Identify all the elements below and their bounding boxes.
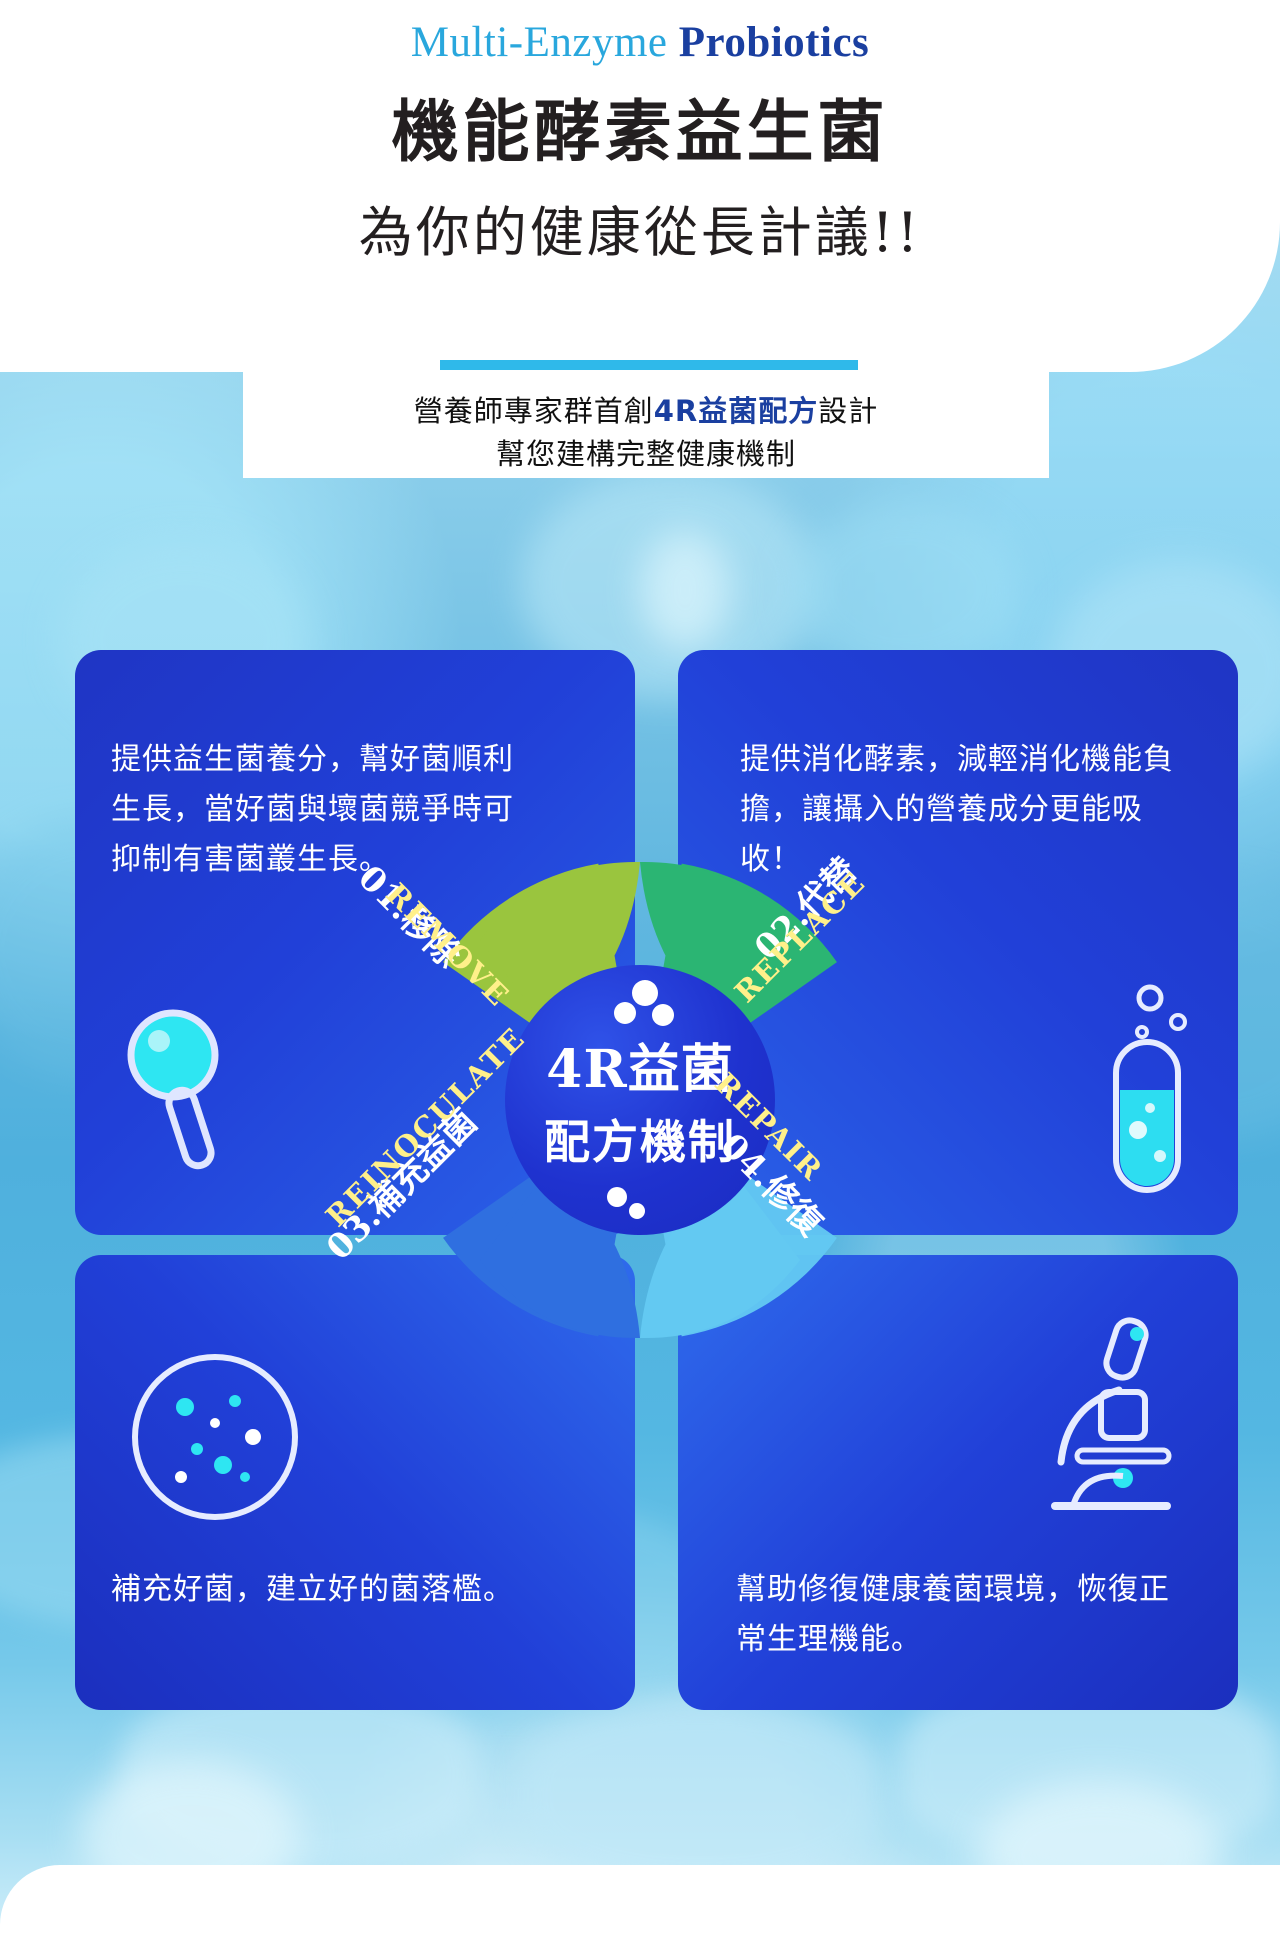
banner-accent-bar bbox=[440, 360, 858, 370]
petri-dish-icon bbox=[123, 1345, 308, 1535]
magnifier-icon bbox=[115, 1005, 265, 1180]
banner-line-2: 幫您建構完整健康機制 bbox=[243, 431, 1049, 473]
header-panel: Multi-Enzyme Probiotics 機能酵素益生菌 為你的健康從長計… bbox=[0, 0, 1280, 372]
page-title-chinese: 機能酵素益生菌 bbox=[0, 78, 1280, 175]
page-title-english: Multi-Enzyme Probiotics bbox=[0, 18, 1280, 67]
poster-page: Multi-Enzyme Probiotics 機能酵素益生菌 為你的健康從長計… bbox=[0, 0, 1280, 1935]
four-r-diagram: 4R益菌 配方機制 01.移除 REMOVE 02.代替 REPLACE 03.… bbox=[320, 780, 960, 1420]
card-repair-text: 幫助修復健康養菌環境，恢復正常生理機能。 bbox=[736, 1565, 1196, 1665]
microscope-icon bbox=[1015, 1310, 1190, 1530]
card-reinoculate-text: 補充好菌，建立好的菌落檻。 bbox=[111, 1565, 551, 1615]
page-subtitle-chinese: 為你的健康從長計議!! bbox=[0, 188, 1280, 267]
banner-line-1: 營養師專家群首創4R益菌配方設計 bbox=[243, 388, 1049, 430]
test-tube-icon bbox=[1038, 980, 1198, 1200]
footer-wave bbox=[0, 1865, 1280, 1935]
banner-box: 營養師專家群首創4R益菌配方設計 幫您建構完整健康機制 bbox=[243, 368, 1049, 478]
